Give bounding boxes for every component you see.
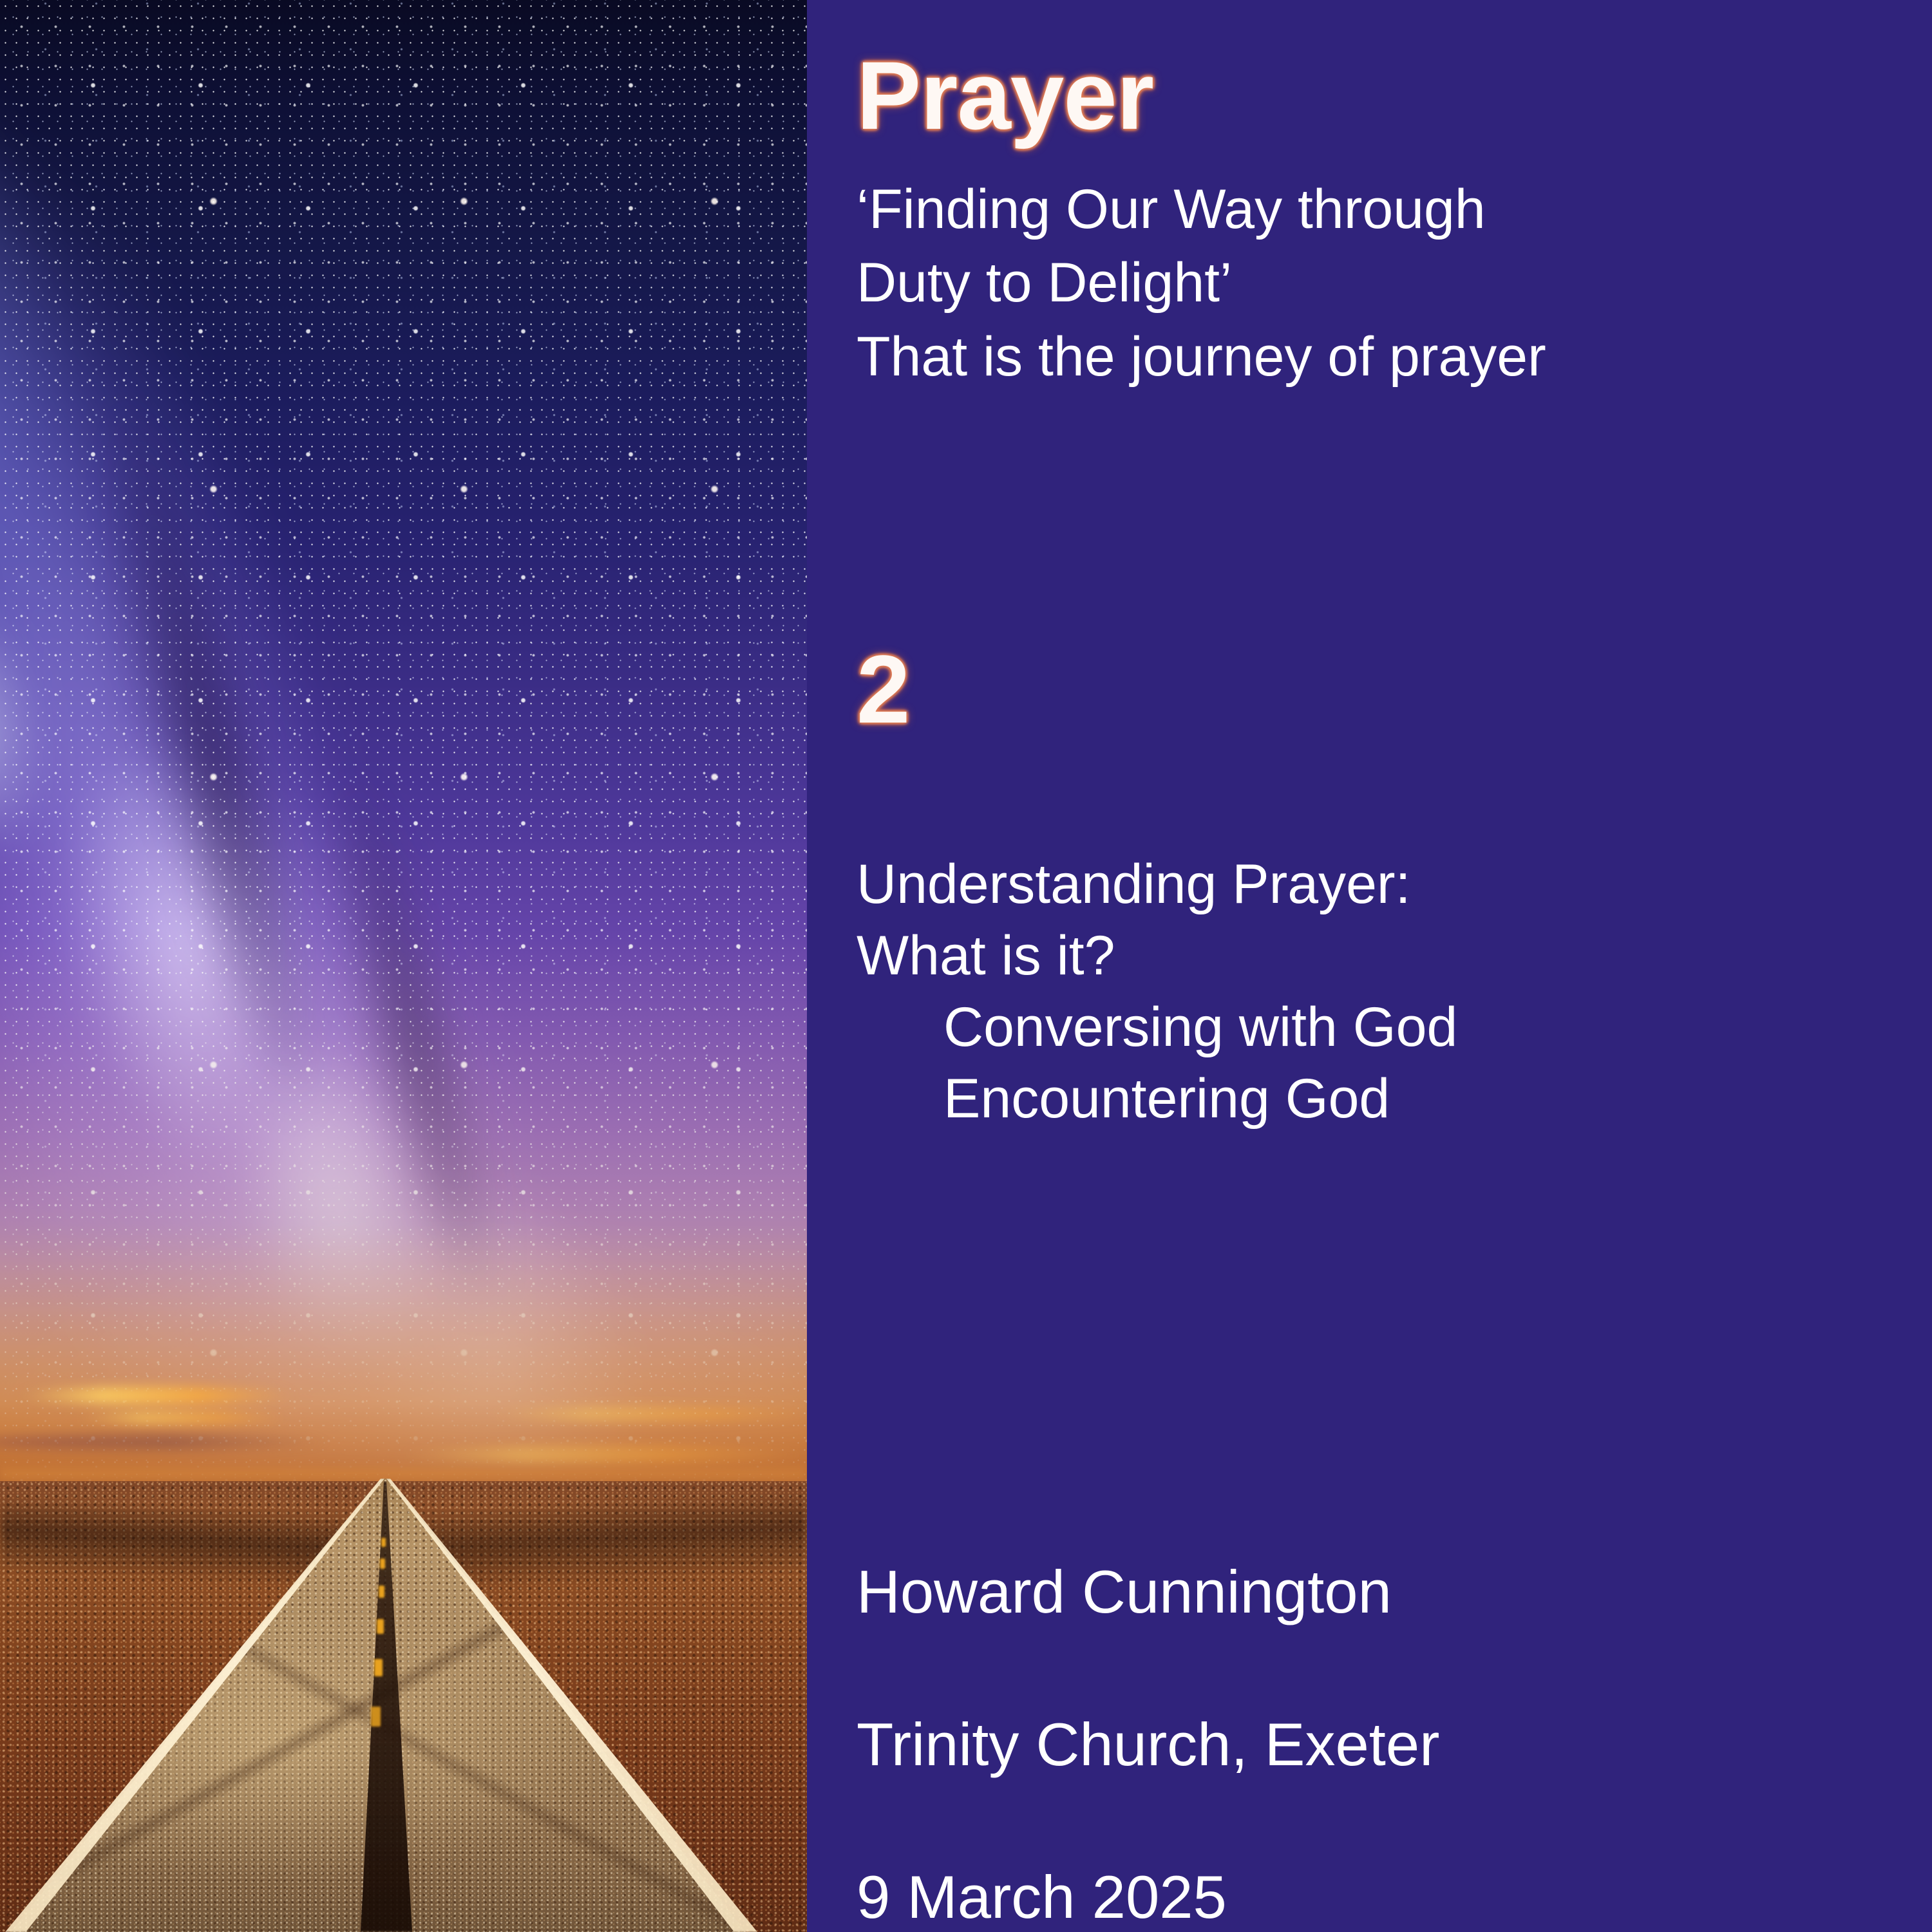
centre-line-dash xyxy=(381,1538,386,1547)
sunset-cloud-streak xyxy=(19,1387,296,1404)
sunset-cloud-streak xyxy=(399,1446,807,1463)
footer-venue: Trinity Church, Exeter xyxy=(857,1710,1439,1778)
body-heading-line-2: What is it? xyxy=(857,925,1115,987)
body-point-1: Conversing with God xyxy=(857,992,1457,1063)
centre-line-dash xyxy=(380,1558,385,1569)
body-text-block: Understanding Prayer: What is it? Conver… xyxy=(857,849,1457,1135)
body-point-2: Encountering God xyxy=(857,1063,1457,1135)
footer-speaker: Howard Cunnington xyxy=(857,1558,1392,1625)
text-panel: Prayer ‘Finding Our Way through Duty to … xyxy=(807,0,1932,1932)
slide-title: Prayer xyxy=(857,46,1153,145)
body-heading-line-1: Understanding Prayer: xyxy=(857,853,1410,915)
section-number: 2 xyxy=(857,641,910,737)
centre-line-dash xyxy=(374,1659,383,1676)
milky-way-road-photo xyxy=(0,0,807,1932)
footer-date: 9 March 2025 xyxy=(857,1863,1227,1931)
centre-line-dash xyxy=(379,1586,384,1598)
presentation-slide: Prayer ‘Finding Our Way through Duty to … xyxy=(0,0,1932,1932)
centre-line-dash xyxy=(377,1619,384,1634)
sunset-cloud-streak xyxy=(77,1412,290,1423)
footer-block: Howard Cunnington Trinity Church, Exeter… xyxy=(857,1478,1439,1932)
sunset-cloud-streak xyxy=(489,1408,807,1421)
slide-subtitle: ‘Finding Our Way through Duty to Delight… xyxy=(857,173,1546,393)
starfield-horizon-fade xyxy=(0,0,807,1494)
centre-line-dash xyxy=(371,1707,381,1727)
